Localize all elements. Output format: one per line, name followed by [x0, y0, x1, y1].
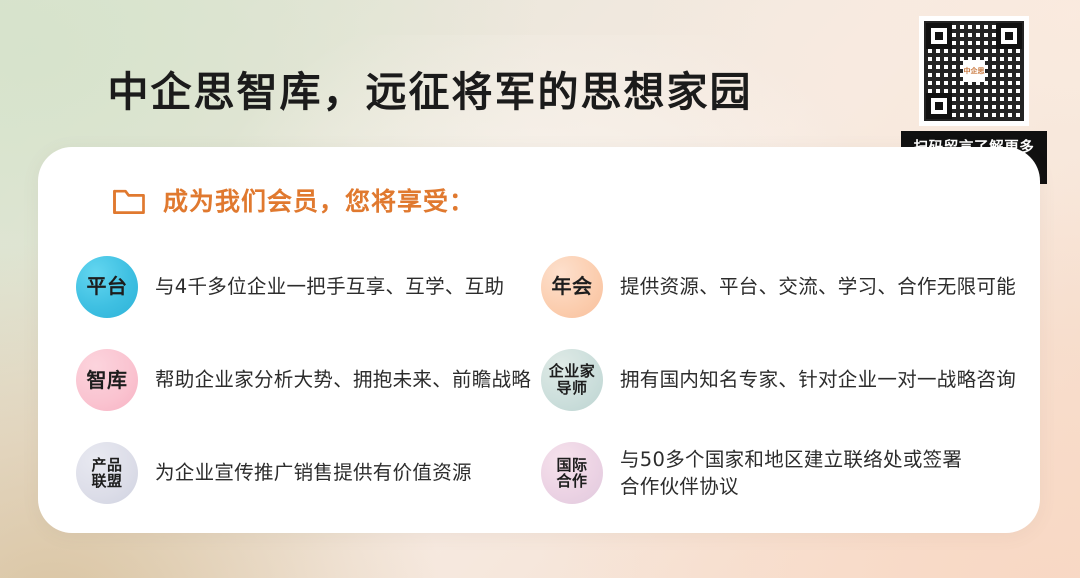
badge-line: 联盟: [91, 473, 122, 490]
badge-line: 智库: [87, 369, 128, 391]
badge-line: 产品: [91, 457, 122, 474]
qr-code-icon[interactable]: 中企思: [919, 16, 1029, 126]
badge-international-cooperation: 国际 合作: [541, 442, 603, 504]
badge-line: 企业家: [549, 363, 596, 380]
badge-line: 平台: [87, 275, 128, 297]
qr-finder-bottom-left-icon: [926, 93, 952, 119]
card-heading: 成为我们会员，您将享受：: [112, 182, 475, 218]
benefit-text-think-tank: 帮助企业家分析大势、拥抱未来、前瞻战略: [155, 366, 531, 394]
badge-line: 导师: [556, 380, 587, 397]
benefits-grid: 平台 与4千多位企业一把手互享、互学、互助 年会 提供资源、平台、交流、学习、合…: [76, 240, 1041, 520]
benefit-text-product-alliance: 为企业宣传推广销售提供有价值资源: [155, 459, 472, 487]
qr-finder-top-left-icon: [926, 23, 952, 49]
badge-product-alliance: 产品 联盟: [76, 442, 138, 504]
benefit-text-entrepreneur-mentor: 拥有国内知名专家、针对企业一对一战略咨询: [620, 366, 1016, 394]
folder-icon: [112, 185, 146, 215]
qr-center-logo: 中企思: [963, 60, 985, 82]
benefit-item-annual-meeting: 年会 提供资源、平台、交流、学习、合作无限可能: [541, 240, 1041, 333]
page-title: 中企思智库，远征将军的思想家园: [0, 58, 860, 118]
badge-platform: 平台: [76, 256, 138, 318]
benefit-text-international-cooperation: 与50多个国家和地区建立联络处或签署 合作伙伴协议: [620, 446, 962, 501]
qr-finder-top-right-icon: [996, 23, 1022, 49]
badge-line: 合作: [556, 473, 587, 490]
badge-think-tank: 智库: [76, 349, 138, 411]
card-heading-text: 成为我们会员，您将享受：: [163, 182, 475, 218]
benefit-item-international-cooperation: 国际 合作 与50多个国家和地区建立联络处或签署 合作伙伴协议: [541, 427, 1041, 520]
benefit-text-platform: 与4千多位企业一把手互享、互学、互助: [155, 273, 504, 301]
badge-entrepreneur-mentor: 企业家 导师: [541, 349, 603, 411]
benefit-item-platform: 平台 与4千多位企业一把手互享、互学、互助: [76, 240, 541, 333]
benefits-card: 成为我们会员，您将享受： 平台 与4千多位企业一把手互享、互学、互助 年会 提供…: [38, 147, 1040, 533]
badge-line: 国际: [556, 457, 587, 474]
poster-root: 中企思智库，远征将军的思想家园 中企思 扫码留言了解更多信息 成为我们会员，您将…: [0, 0, 1080, 578]
badge-annual-meeting: 年会: [541, 256, 603, 318]
benefit-item-product-alliance: 产品 联盟 为企业宣传推广销售提供有价值资源: [76, 427, 541, 520]
benefit-text-annual-meeting: 提供资源、平台、交流、学习、合作无限可能: [620, 273, 1016, 301]
benefit-item-think-tank: 智库 帮助企业家分析大势、拥抱未来、前瞻战略: [76, 333, 541, 426]
badge-line: 年会: [552, 275, 593, 297]
benefit-item-entrepreneur-mentor: 企业家 导师 拥有国内知名专家、针对企业一对一战略咨询: [541, 333, 1041, 426]
